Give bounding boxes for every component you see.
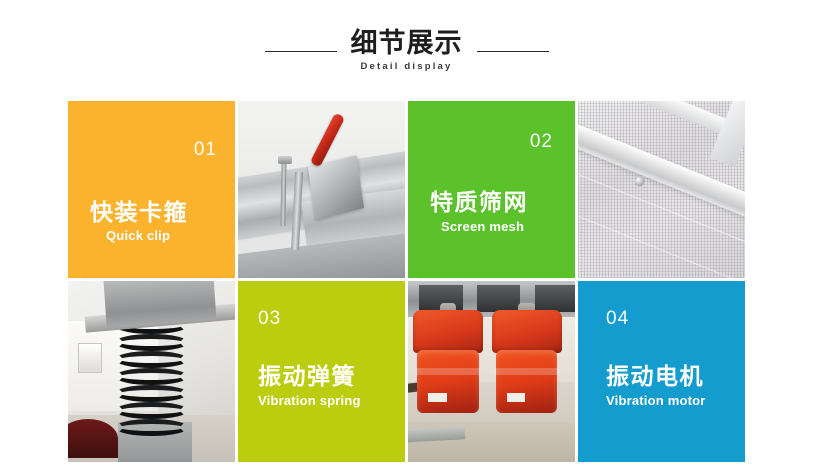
detail-card-04-label[interactable]: 04 振动电机 Vibration motor: [578, 281, 745, 462]
motor-band-shape: [416, 368, 481, 375]
card-number-03: 03: [258, 308, 281, 330]
card-number-04: 04: [606, 308, 629, 330]
spring-wall-plate-shape: [78, 343, 102, 374]
card-title-cn-04: 振动电机: [606, 357, 704, 391]
card-title-en-01: Quick clip: [106, 228, 170, 243]
detail-photo-01-quick-clip: [238, 101, 405, 278]
duct-slot-shape: [535, 285, 575, 313]
motor-unit-left-shape: [413, 310, 483, 422]
page-title-block: 细节展示 Detail display: [351, 30, 463, 72]
mesh-rivet-shape: [635, 177, 644, 186]
mesh-seam-shape: [578, 206, 745, 278]
page-subtitle: Detail display: [360, 61, 452, 72]
clamp-bolt-shape: [278, 156, 292, 164]
card-title-cn-03: 振动弹簧: [258, 357, 356, 391]
page-title: 细节展示: [351, 30, 463, 58]
decorative-rule-right: [477, 51, 549, 52]
motor-band-shape: [494, 368, 559, 375]
mesh-frame-shape: [709, 101, 745, 167]
page-header: 细节展示 Detail display: [0, 0, 813, 96]
duct-slot-shape: [477, 285, 520, 313]
card-title-en-02: Screen mesh: [441, 219, 524, 234]
decorative-rule-left: [265, 51, 337, 52]
card-title-cn-01: 快装卡箍: [90, 193, 188, 227]
card-title-en-03: Vibration spring: [258, 393, 361, 408]
detail-photo-02-screen-mesh: [578, 101, 745, 278]
detail-card-02-label[interactable]: 02 特质筛网 Screen mesh: [408, 101, 575, 278]
detail-grid: 01 快装卡箍 Quick clip 02 特质筛网 Screen mesh: [68, 101, 745, 462]
card-number-02: 02: [530, 131, 553, 153]
detail-photo-04-vibration-motor: [408, 281, 575, 462]
detail-card-01-label[interactable]: 01 快装卡箍 Quick clip: [68, 101, 235, 278]
spring-upper-bracket-shape: [103, 281, 216, 328]
motor-cap-shape: [413, 310, 483, 353]
detail-card-03-label[interactable]: 03 振动弹簧 Vibration spring: [238, 281, 405, 462]
card-title-en-04: Vibration motor: [606, 393, 706, 408]
card-title-cn-02: 特质筛网: [430, 183, 528, 217]
card-number-01: 01: [194, 139, 217, 161]
spring-coil-shape: [115, 317, 188, 447]
detail-photo-03-vibration-spring: [68, 281, 235, 462]
motor-drum-shape: [417, 350, 479, 413]
motor-nameplate-shape: [507, 393, 525, 402]
motor-nameplate-shape: [428, 393, 446, 402]
motor-unit-right-shape: [492, 310, 562, 422]
header-inner: 细节展示 Detail display: [265, 30, 549, 72]
motor-drum-shape: [496, 350, 558, 413]
motor-cap-shape: [492, 310, 562, 353]
